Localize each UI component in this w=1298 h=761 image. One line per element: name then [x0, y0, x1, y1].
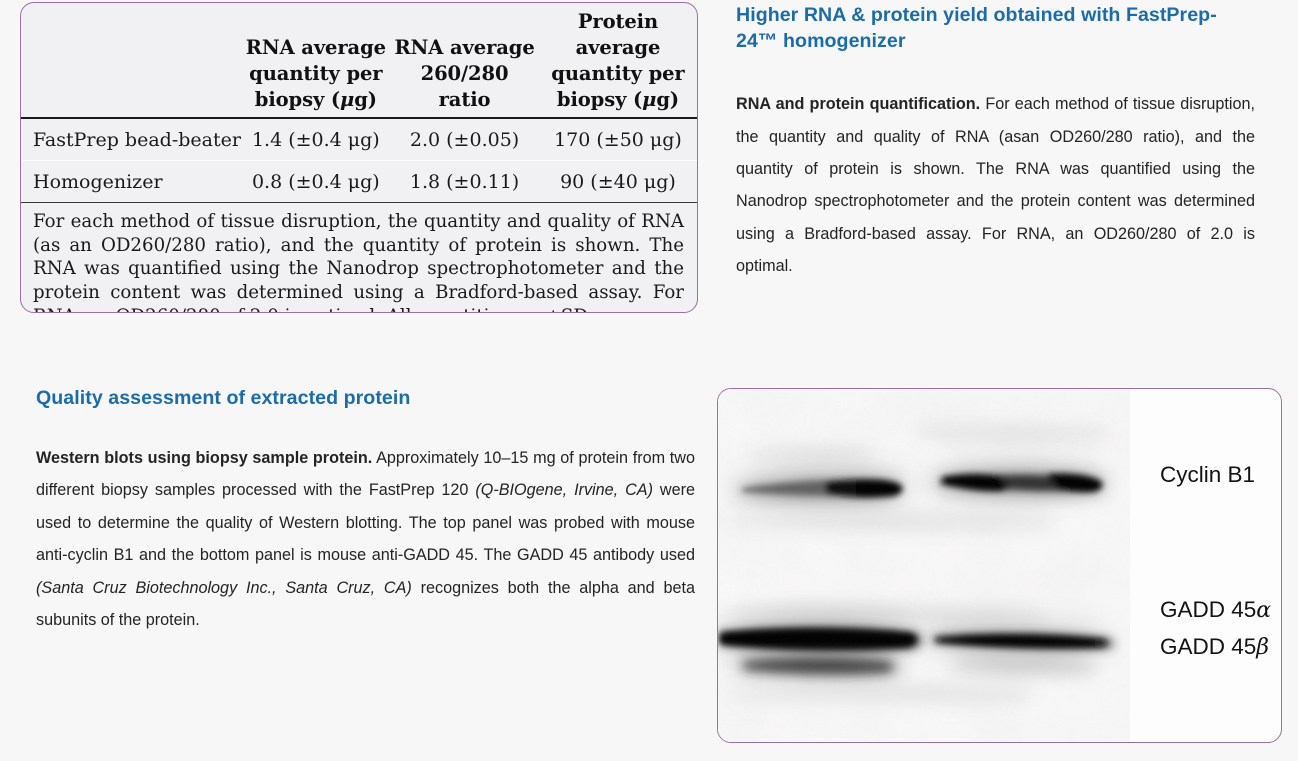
cell-rna-ratio: 1.8 (±0.11)	[390, 160, 539, 202]
blot-label-cyclin-b1: Cyclin B1	[1160, 462, 1255, 488]
quality-citation-santacruz: (Santa Cruz Biotechnology Inc., Santa Cr…	[36, 579, 412, 597]
table-row: FastPrep bead-beater 1.4 (±0.4 μg) 2.0 (…	[21, 118, 697, 161]
blot-label-column: Cyclin B1 GADD 45α GADD 45β	[1140, 389, 1282, 742]
yield-body-rest: For each method of tissue disruption, th…	[736, 95, 1255, 275]
beta-symbol: β	[1256, 635, 1269, 660]
table-header-rna-quantity: RNA average quantity per biopsy (μg)	[241, 3, 390, 118]
table-header-rna-ratio: RNA average 260/280 ratio	[390, 3, 539, 118]
header-line-3: biopsy (μg)	[255, 88, 377, 111]
cell-rna-quantity: 1.4 (±0.4 μg)	[241, 118, 390, 161]
row-method-label: FastPrep bead-beater	[21, 118, 241, 161]
quality-body-lead: Western blots using biopsy sample protei…	[36, 449, 372, 467]
western-blot-autoradiograph-image	[718, 389, 1130, 742]
header-line-2: RNA average	[394, 36, 534, 59]
blot-label-gadd-beta-text: GADD 45	[1160, 634, 1256, 659]
cell-protein-quantity: 90 (±40 μg)	[539, 160, 697, 202]
table-row: Homogenizer 0.8 (±0.4 μg) 1.8 (±0.11) 90…	[21, 160, 697, 202]
rna-protein-table-panel: RNA average quantity per biopsy (μg) RNA…	[20, 2, 698, 313]
row-method-label: Homogenizer	[21, 160, 241, 202]
header-line-3: 260/280 ratio	[421, 62, 509, 111]
header-line-2: quantity per	[249, 62, 382, 85]
yield-section-body: RNA and protein quantification. For each…	[736, 88, 1255, 282]
alpha-symbol: α	[1256, 598, 1271, 623]
blot-label-gadd-45-beta: GADD 45β	[1160, 634, 1269, 660]
header-line-1: RNA average	[246, 36, 386, 59]
yield-body-lead: RNA and protein quantification.	[736, 95, 980, 113]
blot-bands-graphic	[718, 389, 1130, 742]
western-blot-panel: Cyclin B1 GADD 45α GADD 45β	[717, 388, 1282, 743]
cell-rna-quantity: 0.8 (±0.4 μg)	[241, 160, 390, 202]
header-line-2: quantity per	[551, 62, 684, 85]
cell-rna-ratio: 2.0 (±0.05)	[390, 118, 539, 161]
quality-section-body: Western blots using biopsy sample protei…	[36, 442, 695, 636]
cell-protein-quantity: 170 (±50 μg)	[539, 118, 697, 161]
quality-section: Quality assessment of extracted protein …	[36, 385, 695, 636]
header-line-1: Protein average	[576, 10, 661, 59]
table-footnote: For each method of tissue disruption, th…	[21, 203, 697, 313]
blot-label-cyclin-text: Cyclin B1	[1160, 462, 1255, 487]
yield-section: Higher RNA & protein yield obtained with…	[736, 2, 1258, 283]
table-header-protein-quantity: Protein average quantity per biopsy (μg)	[539, 3, 697, 118]
quality-section-heading: Quality assessment of extracted protein	[36, 385, 695, 411]
header-line-3: biopsy (μg)	[557, 88, 679, 111]
table-header-corner	[21, 3, 241, 118]
quality-citation-qbiogene: (Q-BIOgene, Irvine, CA)	[475, 481, 653, 499]
table-body: FastPrep bead-beater 1.4 (±0.4 μg) 2.0 (…	[21, 118, 697, 203]
mu-symbol: μ	[340, 88, 354, 111]
table-header: RNA average quantity per biopsy (μg) RNA…	[21, 3, 697, 118]
blot-label-gadd-45-alpha: GADD 45α	[1160, 597, 1271, 623]
rna-protein-quantification-table: RNA average quantity per biopsy (μg) RNA…	[21, 3, 697, 203]
mu-symbol: μ	[642, 88, 656, 111]
yield-section-heading: Higher RNA & protein yield obtained with…	[736, 2, 1258, 54]
blot-label-gadd-alpha-text: GADD 45	[1160, 597, 1256, 622]
